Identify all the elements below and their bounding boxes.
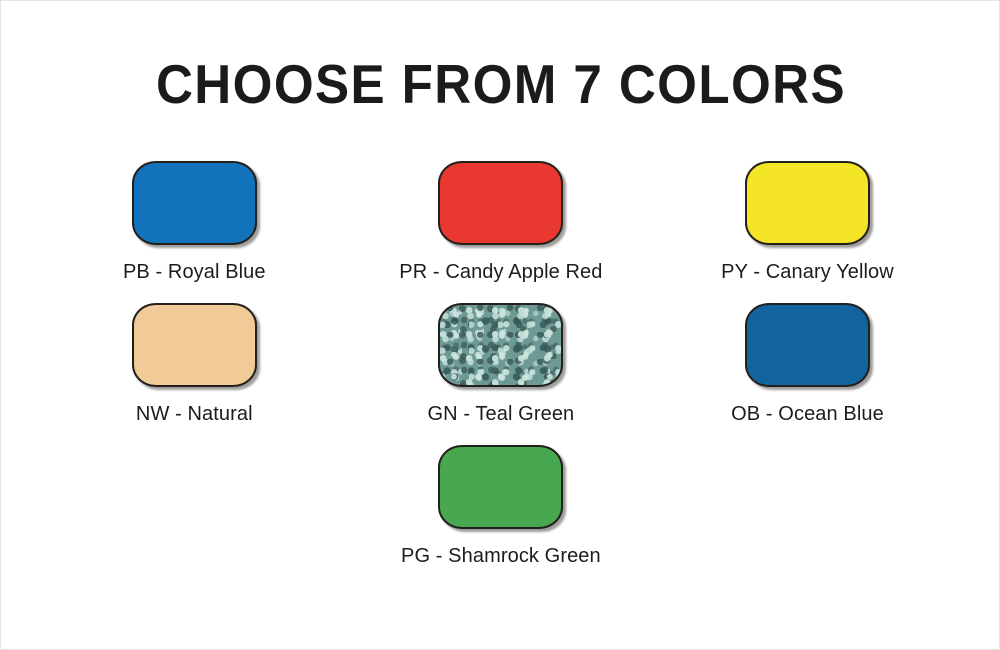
color-swatch-py[interactable] [745,161,870,245]
color-swatch-nw[interactable] [132,303,257,387]
swatch-cell-nw[interactable]: NW - Natural [41,303,348,445]
color-swatch-pb[interactable] [132,161,257,245]
swatch-cell-pr[interactable]: PR - Candy Apple Red [348,161,655,303]
color-swatch-pr[interactable] [438,161,563,245]
color-chart-page: CHOOSE FROM 7 COLORS PB - Royal Blue PR … [0,0,1000,650]
color-swatch-ob[interactable] [745,303,870,387]
swatch-cell-py[interactable]: PY - Canary Yellow [654,161,961,303]
swatch-label-py: PY - Canary Yellow [721,261,894,284]
swatch-cell-pg[interactable]: PG - Shamrock Green [348,445,655,587]
color-swatch-gn[interactable] [438,303,563,387]
swatch-row: PG - Shamrock Green [41,445,961,587]
swatch-label-gn: GN - Teal Green [428,403,575,426]
swatch-label-pg: PG - Shamrock Green [401,545,601,568]
swatch-row: PB - Royal Blue PR - Candy Apple Red PY … [41,161,961,303]
swatch-row: NW - Natural GN - Teal Green OB - Ocean … [41,303,961,445]
swatch-label-nw: NW - Natural [136,403,253,426]
swatch-cell-pb[interactable]: PB - Royal Blue [41,161,348,303]
swatch-label-pr: PR - Candy Apple Red [399,261,602,284]
swatch-grid: PB - Royal Blue PR - Candy Apple Red PY … [41,161,961,587]
page-title: CHOOSE FROM 7 COLORS [36,57,966,112]
swatch-label-pb: PB - Royal Blue [123,261,266,284]
swatch-cell-gn[interactable]: GN - Teal Green [348,303,655,445]
swatch-label-ob: OB - Ocean Blue [731,403,884,426]
swatch-cell-ob[interactable]: OB - Ocean Blue [654,303,961,445]
color-swatch-pg[interactable] [438,445,563,529]
